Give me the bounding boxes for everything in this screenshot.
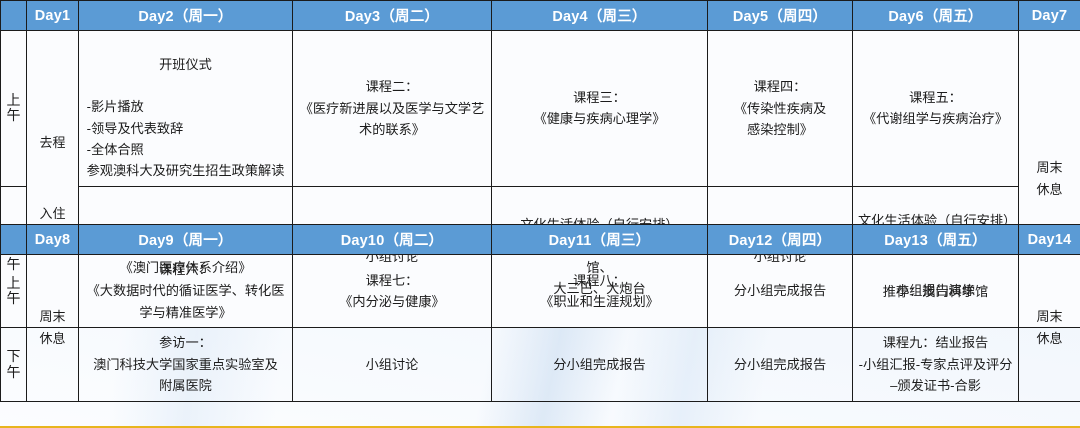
day9-afternoon-cell: 参访一： 澳门科技大学国家重点实验室及 附属医院 <box>79 328 293 401</box>
day12-morning-cell: 分小组完成报告 <box>708 255 853 328</box>
week2-header-row: Day8 Day9（周一） Day10（周二） Day11（周三） Day12（… <box>1 225 1080 255</box>
header-blank-2 <box>1 225 27 255</box>
day7-rest-text: 周末 休息 <box>1036 160 1062 196</box>
day12-afternoon-cell: 分小组完成报告 <box>708 328 853 401</box>
day3-morning-text: 课程二： 《医疗新进展以及医学与文学艺 术的联系》 <box>300 79 485 137</box>
day13-morning-cell: 小组报告演练 <box>853 255 1019 328</box>
header-day13[interactable]: Day13（周五） <box>853 225 1019 255</box>
day6-morning-cell: 课程五： 《代谢组学与疾病治疗》 <box>853 31 1019 187</box>
day8-cell: 周末 休息 <box>27 255 79 402</box>
day11-afternoon-text: 分小组完成报告 <box>553 357 645 372</box>
row-label-afternoon-text-2: 下午 <box>6 349 22 380</box>
day13-afternoon-cell: 课程九：结业报告 -小组汇报-专家点评及评分 –颁发证书-合影 <box>853 328 1019 401</box>
header-day6[interactable]: Day6（周五） <box>853 1 1019 31</box>
day12-afternoon-text: 分小组完成报告 <box>734 357 826 372</box>
day1-checkin: 入住 <box>32 204 73 225</box>
header-day1[interactable]: Day1 <box>27 1 79 31</box>
day11-morning-cell: 课程八： 《职业和生涯规划》 <box>492 255 708 328</box>
day4-morning-cell: 课程三： 《健康与疾病心理学》 <box>492 31 708 187</box>
day9-morning-text: 课程六： 《大数据时代的循证医学、转化医 学与精准医学》 <box>87 262 285 320</box>
week2-morning-row: 上午 周末 休息 课程六： 《大数据时代的循证医学、转化医 学与精准医学》 课程… <box>1 255 1080 328</box>
day9-afternoon-text: 参访一： 澳门科技大学国家重点实验室及 附属医院 <box>93 335 278 393</box>
day13-morning-text: 小组报告演练 <box>896 283 975 298</box>
day5-morning-cell: 课程四： 《传染性疾病及 感染控制》 <box>708 31 853 187</box>
row-label-morning-2: 上午 <box>1 255 27 328</box>
day14-rest-text: 周末 休息 <box>1036 309 1062 345</box>
day12-morning-text: 分小组完成报告 <box>734 283 826 298</box>
week2-afternoon-row: 下午 参访一： 澳门科技大学国家重点实验室及 附属医院 小组讨论 分小组完成报告… <box>1 328 1080 401</box>
row-label-afternoon-2: 下午 <box>1 328 27 401</box>
header-day8[interactable]: Day8 <box>27 225 79 255</box>
header-day14[interactable]: Day14 <box>1019 225 1080 255</box>
header-day12[interactable]: Day12（周四） <box>708 225 853 255</box>
header-day9[interactable]: Day9（周一） <box>79 225 293 255</box>
day14-cell: 周末 休息 <box>1019 255 1080 402</box>
header-day4[interactable]: Day4（周三） <box>492 1 708 31</box>
day5-morning-text: 课程四： 《传染性疾病及 感染控制》 <box>734 79 826 137</box>
day13-afternoon-text: 课程九：结业报告 -小组汇报-专家点评及评分 –颁发证书-合影 <box>859 335 1013 393</box>
header-day5[interactable]: Day5（周四） <box>708 1 853 31</box>
day8-rest-text: 周末 休息 <box>39 309 65 345</box>
header-day10[interactable]: Day10（周二） <box>293 225 492 255</box>
day2-morning-title: 开班仪式 <box>84 55 287 75</box>
day11-morning-text: 课程八： 《职业和生涯规划》 <box>540 273 659 309</box>
week2-block: Day8 Day9（周一） Day10（周二） Day11（周三） Day12（… <box>0 224 1080 428</box>
day6-morning-text: 课程五： 《代谢组学与疾病治疗》 <box>863 90 1008 126</box>
day10-afternoon-text: 小组讨论 <box>366 357 419 372</box>
header-day2[interactable]: Day2（周一） <box>79 1 293 31</box>
header-blank <box>1 1 27 31</box>
header-day11[interactable]: Day11（周三） <box>492 225 708 255</box>
row-label-morning-text-2: 上午 <box>6 276 22 307</box>
header-day7[interactable]: Day7 <box>1019 1 1080 31</box>
day10-morning-text: 课程七： 《内分泌与健康》 <box>339 273 445 309</box>
day4-morning-text: 课程三： 《健康与疾病心理学》 <box>534 90 666 126</box>
row-label-morning-text: 上午 <box>6 93 22 124</box>
day1-outbound: 去程 <box>32 133 73 154</box>
week1-header-row: Day1 Day2（周一） Day3（周二） Day4（周三） Day5（周四）… <box>1 1 1080 31</box>
day2-morning-cell: 开班仪式 -影片播放 -领导及代表致辞 -全体合照 参观澳科大及研究生招生政策解… <box>79 31 293 187</box>
day9-morning-cell: 课程六： 《大数据时代的循证医学、转化医 学与精准医学》 <box>79 255 293 328</box>
day3-morning-cell: 课程二： 《医疗新进展以及医学与文学艺 术的联系》 <box>293 31 492 187</box>
day2-morning-items: -影片播放 -领导及代表致辞 -全体合照 参观澳科大及研究生招生政策解读 <box>87 96 285 182</box>
day10-afternoon-cell: 小组讨论 <box>293 328 492 401</box>
row-label-morning: 上午 <box>1 31 27 187</box>
schedule-sheet: Day1 Day2（周一） Day3（周二） Day4（周三） Day5（周四）… <box>0 0 1080 428</box>
day11-afternoon-cell: 分小组完成报告 <box>492 328 708 401</box>
day10-morning-cell: 课程七： 《内分泌与健康》 <box>293 255 492 328</box>
header-day3[interactable]: Day3（周二） <box>293 1 492 31</box>
week2-table: Day8 Day9（周一） Day10（周二） Day11（周三） Day12（… <box>0 224 1080 402</box>
week1-block: Day1 Day2（周一） Day3（周二） Day4（周三） Day5（周四）… <box>0 0 1080 224</box>
week1-morning-row: 上午 去程 入住 开班仪式 -影片播放 -领导及代表致辞 -全体合照 参观澳科大… <box>1 31 1080 187</box>
